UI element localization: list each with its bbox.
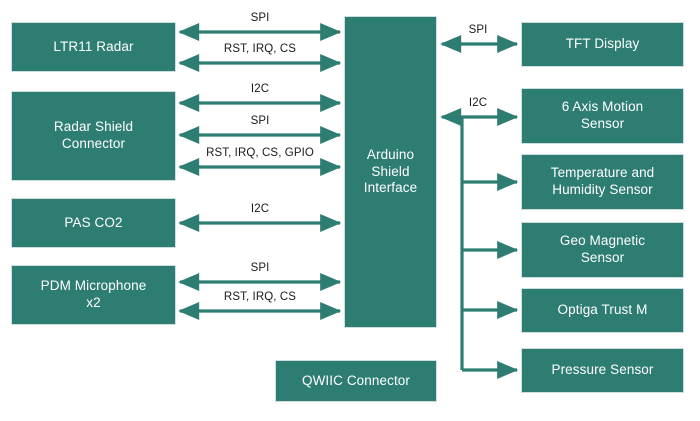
block-label: Geo Magnetic Sensor xyxy=(560,233,645,267)
block-temperature-humidity-sensor[interactable]: Temperature and Humidity Sensor xyxy=(521,154,684,210)
block-label: QWIIC Connector xyxy=(302,373,410,390)
conn-label-radarshield-rst-irq-cs-gpio: RST, IRQ, CS, GPIO xyxy=(206,147,314,159)
block-optiga-trust-m[interactable]: Optiga Trust M xyxy=(521,288,684,333)
block-6-axis-motion-sensor[interactable]: 6 Axis Motion Sensor xyxy=(521,88,684,144)
conn-label-radarshield-i2c: I2C xyxy=(251,83,269,95)
block-radar-shield-connector[interactable]: Radar Shield Connector xyxy=(11,91,176,181)
block-pdm-microphone[interactable]: PDM Microphone x2 xyxy=(11,265,176,325)
block-label: LTR11 Radar xyxy=(53,39,133,56)
block-tft-display[interactable]: TFT Display xyxy=(521,22,684,67)
block-label: 6 Axis Motion Sensor xyxy=(562,99,644,133)
block-label: PAS CO2 xyxy=(64,215,122,232)
block-arduino-shield-interface[interactable]: Arduino Shield Interface xyxy=(344,16,437,328)
conn-label-ltr11-rst-irq-cs: RST, IRQ, CS xyxy=(224,43,296,55)
block-geo-magnetic-sensor[interactable]: Geo Magnetic Sensor xyxy=(521,222,684,278)
block-qwiic-connector[interactable]: QWIIC Connector xyxy=(275,360,437,402)
conn-label-i2c-bus: I2C xyxy=(469,97,487,109)
block-pressure-sensor[interactable]: Pressure Sensor xyxy=(521,348,684,393)
conn-label-pasco2-i2c: I2C xyxy=(251,203,269,215)
block-label: Radar Shield Connector xyxy=(54,119,133,153)
conn-label-tft-spi: SPI xyxy=(469,24,488,36)
conn-label-ltr11-spi: SPI xyxy=(251,12,270,24)
block-ltr11-radar[interactable]: LTR11 Radar xyxy=(11,22,176,72)
block-label: Optiga Trust M xyxy=(558,302,648,319)
block-label: Pressure Sensor xyxy=(551,362,653,379)
block-diagram-canvas: Arduino Shield Interface LTR11 Radar Rad… xyxy=(0,0,700,421)
block-label: PDM Microphone x2 xyxy=(41,278,147,312)
block-label: TFT Display xyxy=(566,36,640,53)
conn-label-radarshield-spi: SPI xyxy=(251,115,270,127)
conn-label-pdm-spi: SPI xyxy=(251,262,270,274)
block-label: Arduino Shield Interface xyxy=(364,147,417,198)
i2c-bus xyxy=(442,117,517,370)
conn-label-pdm-rst-irq-cs: RST, IRQ, CS xyxy=(224,291,296,303)
block-pas-co2[interactable]: PAS CO2 xyxy=(11,198,176,248)
block-label: Temperature and Humidity Sensor xyxy=(551,165,655,199)
